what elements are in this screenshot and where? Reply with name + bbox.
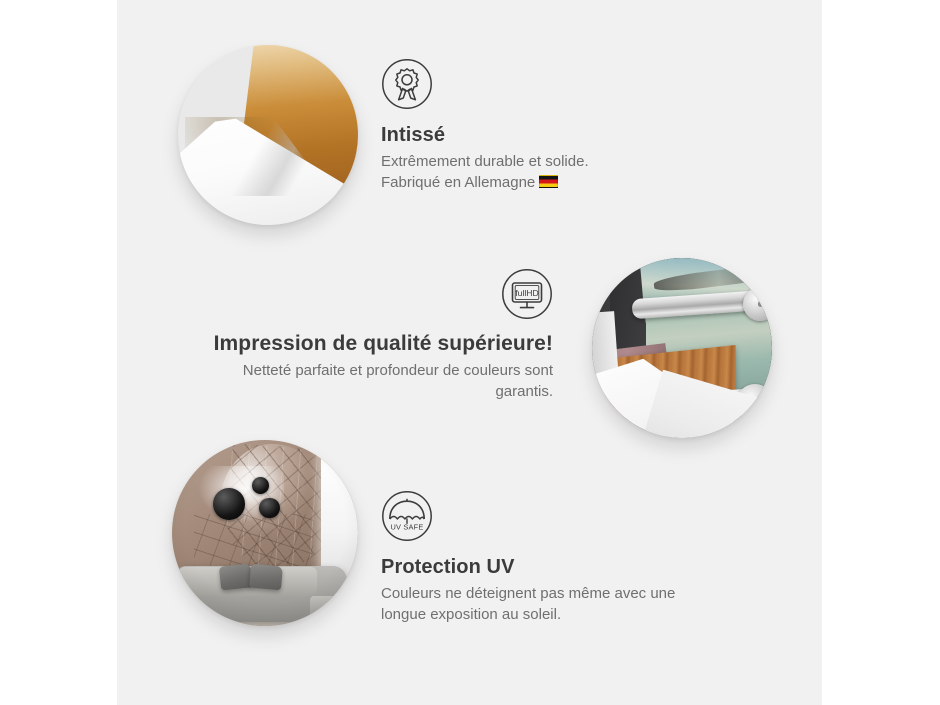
- feature-uv-protection-body: Couleurs ne déteignent pas même avec une…: [381, 583, 721, 626]
- press-wheel-upper-right: [743, 287, 772, 321]
- feature-uv-protection-body-line-2: longue exposition au soleil.: [381, 606, 561, 623]
- feature-print-quality-body: Netteté parfaite et profondeur de couleu…: [201, 360, 553, 403]
- german-flag-icon: [539, 175, 558, 188]
- feature-print-quality-title: Impression de qualité supérieure!: [201, 332, 553, 356]
- screenshot-canvas: Intissé Extrêmement durable et solide. F…: [0, 0, 940, 705]
- feature-nonwoven-body-line-2: Fabriqué en Allemagne: [381, 174, 535, 191]
- fullhd-icon-label: fullHD: [515, 288, 538, 298]
- feature-uv-protection-title: Protection UV: [381, 556, 721, 579]
- product-features-panel: Intissé Extrêmement durable et solide. F…: [117, 0, 822, 705]
- nonwoven-wallpaper-peel-photo[interactable]: [178, 45, 358, 225]
- feature-nonwoven-title: Intissé: [381, 124, 721, 147]
- feature-nonwoven: Intissé Extrêmement durable et solide. F…: [381, 58, 721, 194]
- feature-print-quality: fullHD Impression de qualité supérieure!…: [201, 268, 553, 403]
- feature-uv-protection-body-line-1: Couleurs ne déteignent pas même avec une: [381, 585, 675, 602]
- uv-safe-umbrella-icon-wrap: UV SAFE: [381, 490, 721, 542]
- uv-safe-icon-label: UV SAFE: [390, 522, 423, 531]
- wallpaper-illustration: [178, 45, 358, 225]
- fullhd-monitor-icon: fullHD: [501, 268, 553, 320]
- feature-print-quality-body-line-2: garantis.: [495, 383, 553, 400]
- printing-press-photo[interactable]: [592, 258, 772, 438]
- printing-press-illustration: [592, 258, 772, 438]
- fullhd-monitor-icon-wrap: fullHD: [201, 268, 553, 320]
- feature-uv-protection: UV SAFE Protection UV Couleurs ne déteig…: [381, 490, 721, 626]
- award-medal-icon: [381, 58, 433, 110]
- interior-geometric-mural-photo[interactable]: [172, 440, 358, 626]
- uv-safe-umbrella-icon: UV SAFE: [381, 490, 433, 542]
- feature-print-quality-body-line-1: Netteté parfaite et profondeur de couleu…: [243, 362, 553, 379]
- award-medal-icon-wrap: [381, 58, 721, 110]
- interior-illustration: [172, 440, 358, 626]
- feature-nonwoven-body-line-1: Extrêmement durable et solide.: [381, 153, 589, 170]
- feature-nonwoven-body: Extrêmement durable et solide. Fabriqué …: [381, 151, 721, 194]
- photo-vignette: [172, 440, 358, 626]
